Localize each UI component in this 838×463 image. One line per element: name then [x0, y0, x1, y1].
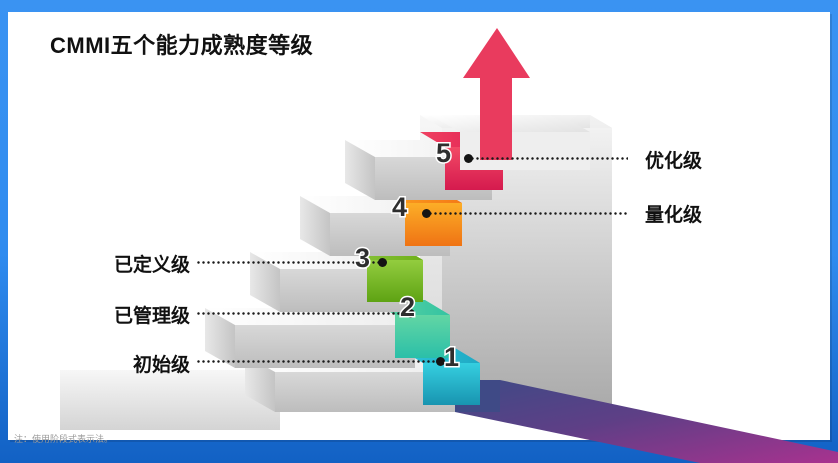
- label-step-4: 量化级: [645, 200, 702, 227]
- leader-dot-step-4: [422, 209, 431, 218]
- step-number-4-text: 4: [392, 192, 407, 222]
- step-number-2-text: 2: [400, 292, 415, 322]
- step-number-3: 3: [355, 243, 370, 274]
- step-number-1: 1: [444, 342, 459, 373]
- cmmi-staircase-diagram: [0, 0, 838, 463]
- slide-frame: CMMI五个能力成熟度等级: [0, 0, 838, 463]
- step-number-3-text: 3: [355, 243, 370, 273]
- purple-ribbon: [455, 380, 838, 463]
- step-number-4: 4: [392, 192, 407, 223]
- footnote: 注：使用阶段式表示法。: [14, 432, 113, 445]
- step-number-1-text: 1: [444, 342, 459, 372]
- leader-line-step-2: [196, 312, 410, 315]
- leader-line-step-1: [196, 360, 440, 363]
- leader-dot-step-3: [378, 258, 387, 267]
- label-step-1: 初始级: [0, 350, 190, 377]
- step-number-5: 5: [436, 138, 451, 169]
- label-step-3: 已定义级: [0, 250, 190, 277]
- step-number-2: 2: [400, 292, 415, 323]
- leader-line-step-5: [470, 157, 628, 160]
- label-step-2: 已管理级: [0, 301, 190, 328]
- step-number-5-text: 5: [436, 138, 451, 168]
- label-step-5: 优化级: [645, 146, 702, 173]
- leader-line-step-4: [428, 212, 628, 215]
- leader-dot-step-5: [464, 154, 473, 163]
